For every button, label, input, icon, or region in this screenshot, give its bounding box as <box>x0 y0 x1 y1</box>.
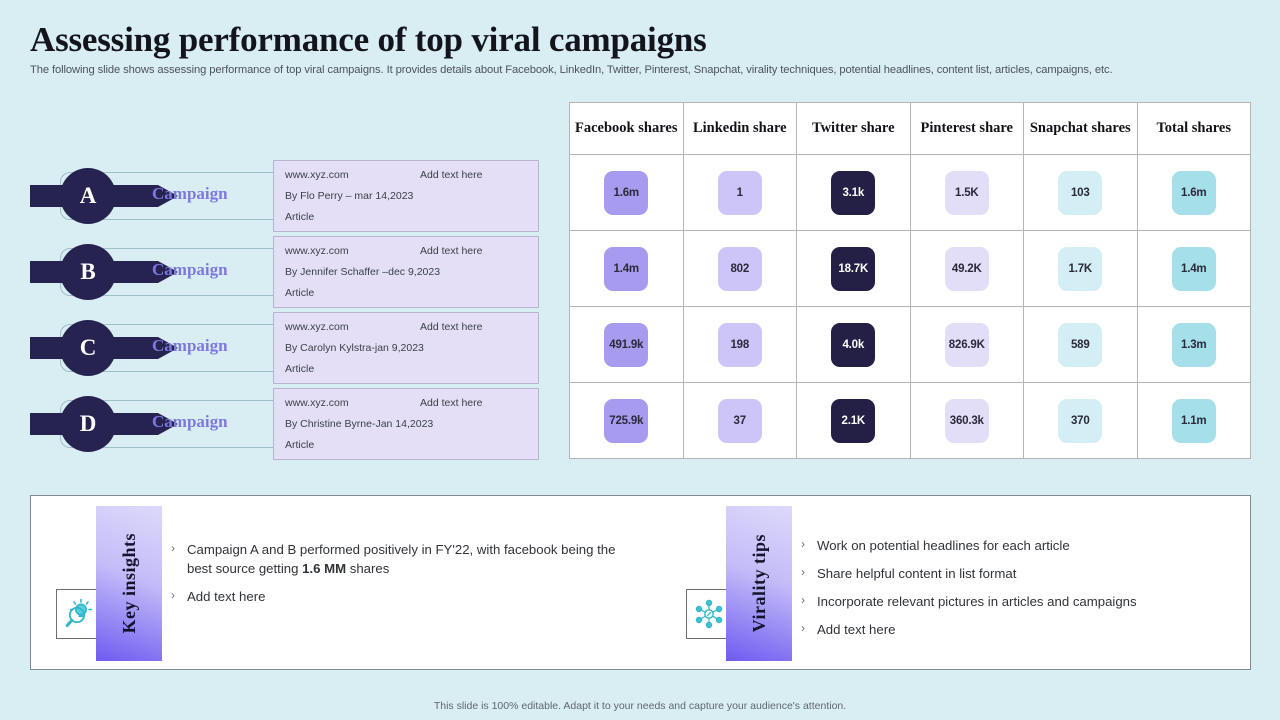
article-byline: By Flo Perry – mar 14,2023 <box>285 190 528 202</box>
article-type: Article <box>285 211 528 223</box>
campaign-badge-letter: B <box>60 244 116 300</box>
cell-facebook: 491.9k <box>570 307 684 383</box>
value-pill: 1.6m <box>1172 171 1216 215</box>
metrics-table: Facebook shares Linkedin share Twitter s… <box>569 102 1251 459</box>
chevron-right-icon: › <box>171 540 187 578</box>
value-pill: 589 <box>1058 323 1102 367</box>
cell-twitter: 4.0k <box>797 307 911 383</box>
campaign-badge-letter: D <box>60 396 116 452</box>
article-card[interactable]: www.xyz.com Add text here By Carolyn Kyl… <box>273 312 539 384</box>
article-add-text: Add text here <box>420 397 482 409</box>
insights-panel: Key insights › Campaign A and B performe… <box>30 495 1251 670</box>
value-pill: 103 <box>1058 171 1102 215</box>
value-pill: 370 <box>1058 399 1102 443</box>
campaign-badge-letter: A <box>60 168 116 224</box>
article-url: www.xyz.com <box>285 397 420 409</box>
cell-linkedin: 37 <box>683 383 797 459</box>
list-item-text: Add text here <box>187 587 265 606</box>
article-add-text: Add text here <box>420 245 482 257</box>
chevron-right-icon: › <box>801 564 817 583</box>
value-pill: 1.6m <box>604 171 648 215</box>
value-pill: 18.7K <box>831 247 875 291</box>
key-insights-tab-label: Key insights <box>119 533 140 634</box>
list-item-text: Work on potential headlines for each art… <box>817 536 1070 555</box>
cell-pinterest: 49.2K <box>910 231 1024 307</box>
chevron-right-icon: › <box>801 620 817 639</box>
list-item: › Add text here <box>801 620 1231 639</box>
list-item-text: Incorporate relevant pictures in article… <box>817 592 1137 611</box>
article-card[interactable]: www.xyz.com Add text here By Christine B… <box>273 388 539 460</box>
campaign-label: Campaign <box>152 336 228 356</box>
article-add-text: Add text here <box>420 169 482 181</box>
value-pill: 1.4m <box>604 247 648 291</box>
cell-twitter: 18.7K <box>797 231 911 307</box>
article-url: www.xyz.com <box>285 169 420 181</box>
footer-note: This slide is 100% editable. Adapt it to… <box>0 700 1280 712</box>
cell-pinterest: 1.5K <box>910 155 1024 231</box>
cell-facebook: 1.6m <box>570 155 684 231</box>
chevron-right-icon: › <box>171 587 187 606</box>
virality-tips-list: › Work on potential headlines for each a… <box>801 536 1231 649</box>
insight-text-bold: 1.6 MM <box>302 561 346 576</box>
article-url: www.xyz.com <box>285 245 420 257</box>
virality-tips-block: Virality tips › Work on potential headli… <box>661 496 1251 671</box>
insight-text-main: Campaign A and B performed positively in… <box>187 542 615 576</box>
article-type: Article <box>285 363 528 375</box>
cell-linkedin: 1 <box>683 155 797 231</box>
slide-root: Assessing performance of top viral campa… <box>0 0 1280 720</box>
campaign-label: Campaign <box>152 260 228 280</box>
metrics-table-wrapper: Facebook shares Linkedin share Twitter s… <box>569 102 1251 459</box>
cell-facebook: 1.4m <box>570 231 684 307</box>
list-item: › Incorporate relevant pictures in artic… <box>801 592 1231 611</box>
article-add-text: Add text here <box>420 321 482 333</box>
cell-linkedin: 802 <box>683 231 797 307</box>
insight-text-tail: shares <box>346 561 389 576</box>
key-insights-tab: Key insights <box>96 506 162 661</box>
cell-total: 1.6m <box>1137 155 1251 231</box>
cell-snapchat: 103 <box>1024 155 1138 231</box>
value-pill: 4.0k <box>831 323 875 367</box>
value-pill: 826.9K <box>945 323 989 367</box>
article-url: www.xyz.com <box>285 321 420 333</box>
list-item: › Work on potential headlines for each a… <box>801 536 1231 555</box>
cell-total: 1.3m <box>1137 307 1251 383</box>
list-item-text: Add text here <box>817 620 895 639</box>
column-header-pinterest: Pinterest share <box>910 103 1024 155</box>
article-card[interactable]: www.xyz.com Add text here By Flo Perry –… <box>273 160 539 232</box>
value-pill: 1.4m <box>1172 247 1216 291</box>
value-pill: 3.1k <box>831 171 875 215</box>
chevron-right-icon: › <box>801 592 817 611</box>
table-row: 1.4m 802 18.7K 49.2K 1.7K 1.4m <box>570 231 1251 307</box>
value-pill: 491.9k <box>604 323 648 367</box>
value-pill: 37 <box>718 399 762 443</box>
article-byline: By Christine Byrne-Jan 14,2023 <box>285 418 528 430</box>
column-header-facebook: Facebook shares <box>570 103 684 155</box>
value-pill: 2.1K <box>831 399 875 443</box>
key-insights-list: › Campaign A and B performed positively … <box>171 540 626 615</box>
key-insights-block: Key insights › Campaign A and B performe… <box>31 496 651 671</box>
value-pill: 49.2K <box>945 247 989 291</box>
page-title: Assessing performance of top viral campa… <box>30 20 707 60</box>
cell-linkedin: 198 <box>683 307 797 383</box>
list-item: › Share helpful content in list format <box>801 564 1231 583</box>
table-row: 1.6m 1 3.1k 1.5K 103 1.6m <box>570 155 1251 231</box>
cell-twitter: 3.1k <box>797 155 911 231</box>
article-card-list: www.xyz.com Add text here By Flo Perry –… <box>273 160 539 464</box>
cell-pinterest: 360.3k <box>910 383 1024 459</box>
cell-facebook: 725.9k <box>570 383 684 459</box>
chevron-right-icon: › <box>801 536 817 555</box>
article-type: Article <box>285 439 528 451</box>
cell-snapchat: 1.7K <box>1024 231 1138 307</box>
list-item-text: Campaign A and B performed positively in… <box>187 540 626 578</box>
value-pill: 1.1m <box>1172 399 1216 443</box>
table-row: 491.9k 198 4.0k 826.9K 589 1.3m <box>570 307 1251 383</box>
virality-tips-tab-label: Virality tips <box>749 534 770 632</box>
page-subtitle: The following slide shows assessing perf… <box>30 64 1255 76</box>
campaign-label: Campaign <box>152 412 228 432</box>
cell-snapchat: 370 <box>1024 383 1138 459</box>
article-byline: By Jennifer Schaffer –dec 9,2023 <box>285 266 528 278</box>
value-pill: 1.3m <box>1172 323 1216 367</box>
virality-tips-tab: Virality tips <box>726 506 792 661</box>
cell-total: 1.4m <box>1137 231 1251 307</box>
column-header-total: Total shares <box>1137 103 1251 155</box>
cell-snapchat: 589 <box>1024 307 1138 383</box>
value-pill: 360.3k <box>945 399 989 443</box>
list-item-text: Share helpful content in list format <box>817 564 1016 583</box>
column-header-linkedin: Linkedin share <box>683 103 797 155</box>
article-byline: By Carolyn Kylstra-jan 9,2023 <box>285 342 528 354</box>
value-pill: 198 <box>718 323 762 367</box>
cell-twitter: 2.1K <box>797 383 911 459</box>
list-item: › Campaign A and B performed positively … <box>171 540 626 578</box>
value-pill: 725.9k <box>604 399 648 443</box>
list-item: › Add text here <box>171 587 626 606</box>
article-type: Article <box>285 287 528 299</box>
cell-total: 1.1m <box>1137 383 1251 459</box>
table-row: 725.9k 37 2.1K 360.3k 370 1.1m <box>570 383 1251 459</box>
campaign-label: Campaign <box>152 184 228 204</box>
column-header-twitter: Twitter share <box>797 103 911 155</box>
article-card[interactable]: www.xyz.com Add text here By Jennifer Sc… <box>273 236 539 308</box>
value-pill: 1.5K <box>945 171 989 215</box>
table-header-row: Facebook shares Linkedin share Twitter s… <box>570 103 1251 155</box>
cell-pinterest: 826.9K <box>910 307 1024 383</box>
campaign-badge-letter: C <box>60 320 116 376</box>
value-pill: 1.7K <box>1058 247 1102 291</box>
value-pill: 802 <box>718 247 762 291</box>
value-pill: 1 <box>718 171 762 215</box>
column-header-snapchat: Snapchat shares <box>1024 103 1138 155</box>
